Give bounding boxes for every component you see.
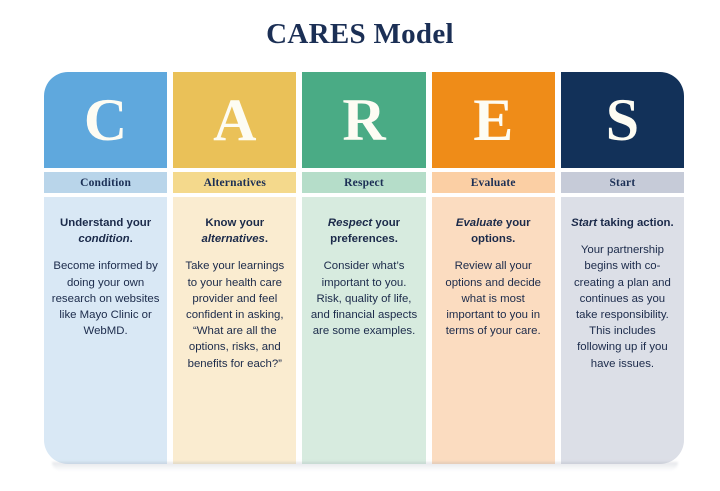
lead-emphasis: condition [78,233,129,245]
cares-columns: C Condition Understand your condition. B… [44,72,684,464]
column-body-condition: Understand your condition. Become inform… [44,197,167,464]
lead-emphasis: Evaluate [456,217,503,229]
lead-prefix: Know your [205,217,264,229]
column-detail-start: Your partnership begins with co-creating… [568,242,677,372]
column-lead-respect: Respect your preferences. [309,215,418,247]
column-detail-respect: Consider what’s important to you. Risk, … [309,258,418,339]
column-detail-evaluate: Review all your options and decide what … [439,258,548,339]
letter-block-c: C [44,72,167,168]
board-shadow [52,462,678,471]
lead-emphasis: alternatives [202,233,265,245]
column-body-start: Start taking action. Your partnership be… [561,197,684,464]
column-start: S Start Start taking action. Your partne… [561,72,684,464]
column-header-start: Start [561,172,684,193]
column-evaluate: E Evaluate Evaluate your options. Review… [432,72,555,464]
column-condition: C Condition Understand your condition. B… [44,72,167,464]
column-header-evaluate: Evaluate [432,172,555,193]
page-title: CARES Model [0,18,720,51]
letter-block-e: E [432,72,555,168]
column-lead-evaluate: Evaluate your options. [439,215,548,247]
lead-emphasis: Start [571,217,597,229]
lead-suffix: . [265,233,268,245]
column-alternatives: A Alternatives Know your alternatives. T… [173,72,296,464]
lead-suffix: taking action. [597,217,674,229]
column-header-alternatives: Alternatives [173,172,296,193]
letter-block-a: A [173,72,296,168]
cares-model-infographic: CARES Model C Condition Understand your … [0,0,720,491]
column-respect: R Respect Respect your preferences. Cons… [302,72,425,464]
letter-block-s: S [561,72,684,168]
column-body-respect: Respect your preferences. Consider what’… [302,197,425,464]
column-body-evaluate: Evaluate your options. Review all your o… [432,197,555,464]
column-detail-condition: Become informed by doing your own resear… [51,258,160,339]
lead-prefix: Understand your [60,217,151,229]
column-header-condition: Condition [44,172,167,193]
letter-block-r: R [302,72,425,168]
column-detail-alternatives: Take your learnings to your health care … [180,258,289,371]
lead-emphasis: Respect [328,217,372,229]
column-lead-condition: Understand your condition. [51,215,160,247]
lead-suffix: . [130,233,133,245]
column-body-alternatives: Know your alternatives. Take your learni… [173,197,296,464]
column-lead-alternatives: Know your alternatives. [180,215,289,247]
column-lead-start: Start taking action. [568,215,677,231]
column-header-respect: Respect [302,172,425,193]
